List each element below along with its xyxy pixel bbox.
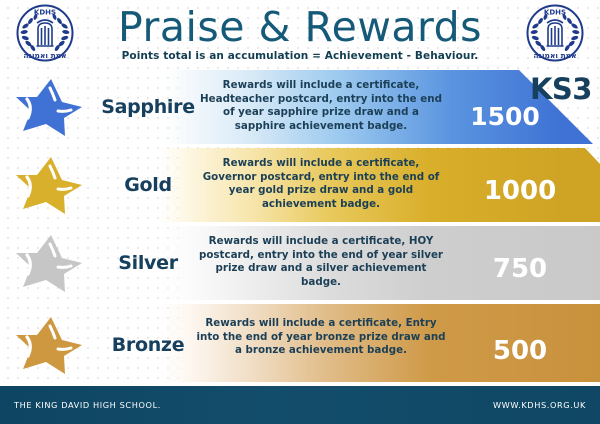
tier-row-sapphire: Sapphire Rewards will include a certific…: [0, 70, 600, 144]
page-subtitle: Points total is an accumulation = Achiev…: [0, 50, 600, 62]
poster-header: KDHS אמת ואמונה: [0, 0, 600, 70]
star-icon: [12, 232, 86, 296]
tier-description-bronze: Rewards will include a certificate, Entr…: [196, 317, 446, 358]
praise-and-rewards-poster: KDHS אמת ואמונה: [0, 0, 600, 424]
tier-row-silver: Silver Rewards will include a certificat…: [0, 226, 600, 300]
tier-points-sapphire: 1500: [460, 102, 550, 131]
reward-tier-list: Sapphire Rewards will include a certific…: [0, 70, 600, 386]
tier-description-sapphire: Rewards will include a certificate, Head…: [196, 79, 446, 133]
footer-website[interactable]: WWW.KDHS.ORG.UK: [493, 400, 586, 410]
tier-description-silver: Rewards will include a certificate, HOY …: [196, 235, 446, 289]
tier-name-bronze: Bronze: [88, 334, 208, 356]
title-block: Praise & Rewards Points total is an accu…: [0, 0, 600, 62]
tier-name-gold: Gold: [88, 174, 208, 196]
tier-points-bronze: 500: [470, 336, 570, 366]
page-title: Praise & Rewards: [0, 2, 600, 52]
tier-name-silver: Silver: [88, 252, 208, 274]
tier-row-bronze: Bronze Rewards will include a certificat…: [0, 304, 600, 382]
tier-points-gold: 1000: [470, 176, 570, 206]
star-icon: [12, 314, 86, 378]
poster-footer: THE KING DAVID HIGH SCHOOL. WWW.KDHS.ORG…: [0, 386, 600, 424]
key-stage-label: KS3: [530, 72, 592, 106]
tier-row-gold: Gold Rewards will include a certificate,…: [0, 148, 600, 222]
tier-name-sapphire: Sapphire: [88, 96, 208, 118]
tier-points-silver: 750: [470, 254, 570, 284]
star-icon: [12, 154, 86, 218]
footer-school-name: THE KING DAVID HIGH SCHOOL.: [14, 400, 161, 410]
tier-description-gold: Rewards will include a certificate, Gove…: [196, 157, 446, 211]
star-icon: [12, 76, 86, 140]
